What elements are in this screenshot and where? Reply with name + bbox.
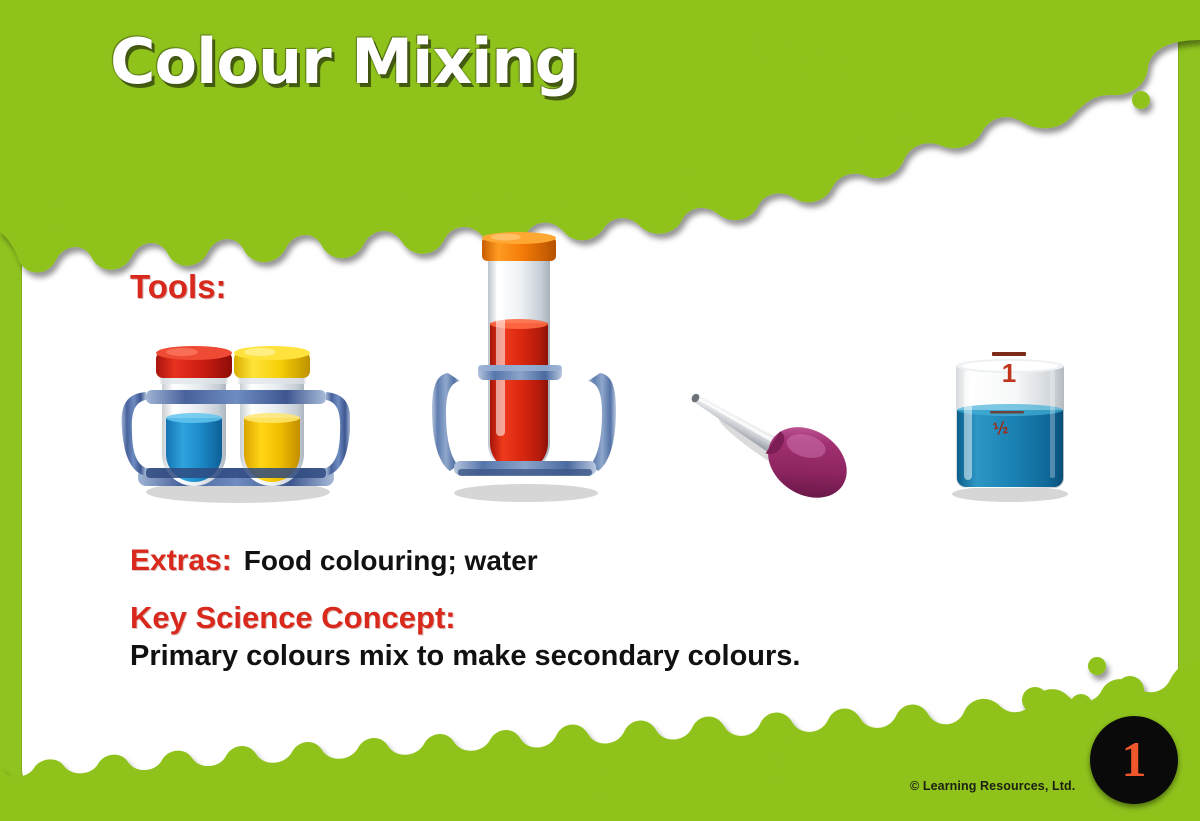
extras-label: Extras: bbox=[130, 544, 232, 577]
large-test-tube-image bbox=[430, 225, 620, 515]
card-number-value: 1 bbox=[1122, 734, 1147, 784]
activity-card: Colour Mixing Tools: bbox=[0, 0, 1200, 821]
svg-text:1: 1 bbox=[1002, 358, 1016, 388]
card-number-badge: 1 bbox=[1090, 716, 1178, 804]
card-title: Colour Mixing bbox=[110, 31, 578, 93]
tools-label: Tools: bbox=[130, 268, 227, 306]
measuring-beaker-image: 1 ½ bbox=[930, 330, 1090, 510]
key-science-concept-label: Key Science Concept: bbox=[130, 600, 456, 636]
key-science-concept-body: Primary colours mix to make secondary co… bbox=[130, 640, 800, 673]
copyright-notice: © Learning Resources, Ltd. bbox=[910, 779, 1075, 793]
pipette-dropper-image bbox=[660, 370, 860, 510]
test-tube-rack-two-tubes-image bbox=[120, 330, 350, 510]
extras-value: Food colouring; water bbox=[244, 545, 538, 576]
extras-line: Extras:Food colouring; water bbox=[130, 544, 538, 578]
